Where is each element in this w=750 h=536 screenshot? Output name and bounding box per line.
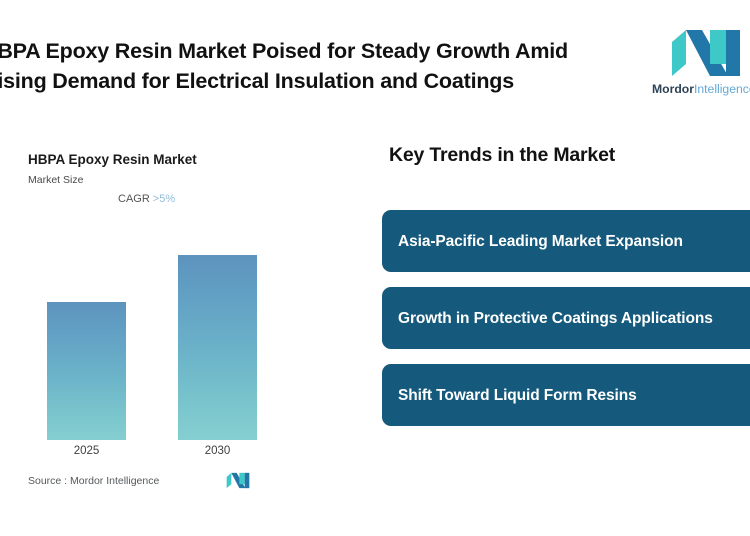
- trends-heading: Key Trends in the Market: [389, 144, 615, 167]
- brand-logo: MordorIntelligence: [652, 28, 750, 104]
- trend-card-liquid-form-resins[interactable]: Shift Toward Liquid Form Resins: [382, 364, 750, 426]
- trend-card-protective-coatings[interactable]: Growth in Protective Coatings Applicatio…: [382, 287, 750, 349]
- chart-panel: HBPA Epoxy Resin Market Market Size CAGR…: [0, 130, 370, 500]
- bar-2025: [47, 302, 126, 440]
- cagr-annotation: CAGR>5%: [118, 193, 175, 205]
- trend-card-asia-pacific[interactable]: Asia-Pacific Leading Market Expansion: [382, 210, 750, 272]
- mordor-m-mark-icon: [226, 472, 250, 489]
- trend-card-label: Growth in Protective Coatings Applicatio…: [398, 306, 713, 331]
- trends-panel: Key Trends in the Market Asia-Pacific Le…: [382, 130, 750, 490]
- x-axis-label-2025: 2025: [47, 445, 126, 457]
- chart-title: HBPA Epoxy Resin Market: [28, 152, 197, 167]
- x-axis-label-2030: 2030: [178, 445, 257, 457]
- cagr-label: CAGR: [118, 193, 150, 205]
- mordor-m-logo-icon: [670, 28, 742, 78]
- brand-word-intelligence: Intelligence: [694, 82, 750, 96]
- page-title: HBPA Epoxy Resin Market Poised for Stead…: [0, 36, 602, 96]
- bar-2030: [178, 255, 257, 440]
- trend-card-label: Asia-Pacific Leading Market Expansion: [398, 229, 683, 254]
- cagr-value: >5%: [153, 193, 175, 205]
- trend-card-list: Asia-Pacific Leading Market Expansion Gr…: [382, 210, 750, 441]
- source-label: Source : Mordor Intelligence: [28, 475, 159, 487]
- brand-wordmark: MordorIntelligence: [652, 82, 750, 96]
- bar-chart-plot-area: [0, 225, 370, 440]
- trend-card-label: Shift Toward Liquid Form Resins: [398, 383, 637, 408]
- page-header: HBPA Epoxy Resin Market Poised for Stead…: [0, 0, 750, 122]
- brand-word-mordor: Mordor: [652, 82, 694, 96]
- chart-subtitle: Market Size: [28, 174, 83, 186]
- source-row: Source : Mordor Intelligence: [28, 472, 348, 494]
